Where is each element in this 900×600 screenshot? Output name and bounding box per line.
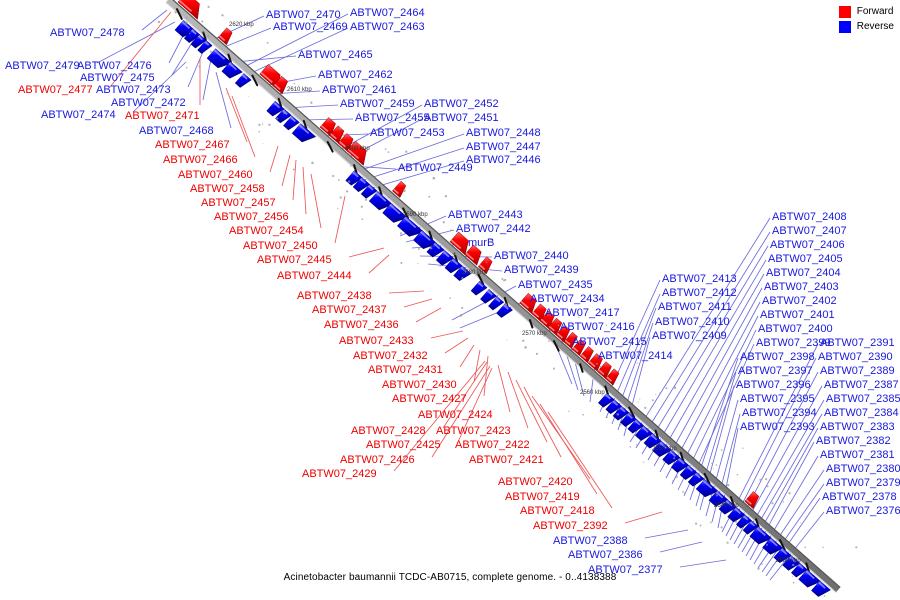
- gene-label-abtw07-2380[interactable]: ABTW07_2380: [826, 464, 900, 475]
- gene-label-abtw07-2463[interactable]: ABTW07_2463: [350, 22, 425, 33]
- gene-label-abtw07-2388[interactable]: ABTW07_2388: [553, 536, 628, 547]
- gene-label-abtw07-2439[interactable]: ABTW07_2439: [504, 265, 579, 276]
- gene-label-abtw07-2435[interactable]: ABTW07_2435: [518, 280, 593, 291]
- scale-tick-label-2570-kbp: 2570 kbp: [522, 331, 547, 337]
- scale-tick-label-2620-kbp: 2620 kbp: [229, 22, 254, 28]
- gene-label-abtw07-2476[interactable]: ABTW07_2476: [77, 61, 152, 72]
- gene-label-abtw07-2408[interactable]: ABTW07_2408: [772, 212, 847, 223]
- gene-label-abtw07-2438[interactable]: ABTW07_2438: [297, 291, 372, 302]
- gene-label-abtw07-2436[interactable]: ABTW07_2436: [324, 320, 399, 331]
- gene-label-abtw07-2379[interactable]: ABTW07_2379: [826, 478, 900, 489]
- gene-label-abtw07-2422[interactable]: ABTW07_2422: [455, 440, 530, 451]
- scale-tick-label-2590-kbp: 2590 kbp: [403, 212, 428, 218]
- gene-label-abtw07-2470[interactable]: ABTW07_2470: [266, 10, 341, 21]
- gene-label-abtw07-2415[interactable]: ABTW07_2415: [572, 337, 647, 348]
- scale-tick-label-2610-kbp: 2610 kbp: [287, 87, 312, 93]
- gene-label-abtw07-2411[interactable]: ABTW07_2411: [658, 302, 732, 313]
- gene-label-abtw07-2431[interactable]: ABTW07_2431: [368, 365, 443, 376]
- gene-label-abtw07-2376[interactable]: ABTW07_2376: [826, 506, 900, 517]
- gene-label-abtw07-2479[interactable]: ABTW07_2479: [5, 61, 80, 72]
- gene-label-abtw07-2454[interactable]: ABTW07_2454: [229, 226, 304, 237]
- gene-label-abtw07-2414[interactable]: ABTW07_2414: [598, 351, 673, 362]
- leader-line: [431, 331, 463, 338]
- gene-label-abtw07-2407[interactable]: ABTW07_2407: [772, 226, 847, 237]
- gene-label-abtw07-2472[interactable]: ABTW07_2472: [111, 98, 186, 109]
- leader-line: [216, 72, 231, 128]
- gene-label-abtw07-2447[interactable]: ABTW07_2447: [466, 142, 541, 153]
- gene-label-abtw07-2429[interactable]: ABTW07_2429: [302, 469, 377, 480]
- leader-line: [645, 530, 688, 538]
- gene-label-abtw07-2445[interactable]: ABTW07_2445: [257, 255, 332, 266]
- gene-label-abtw07-2459[interactable]: ABTW07_2459: [340, 99, 415, 110]
- gene-label-abtw07-2474[interactable]: ABTW07_2474: [41, 110, 116, 121]
- scale-tick-label-2600-kbp: 2600 kbp: [345, 146, 370, 152]
- gene-label-murb[interactable]: murB: [468, 238, 494, 249]
- scale-tick-label-2550-kbp: 2550 kbp: [652, 446, 677, 452]
- legend-reverse-swatch: [839, 21, 851, 33]
- leader-line: [508, 372, 528, 428]
- leader-line: [311, 174, 321, 228]
- gene-label-abtw07-2450[interactable]: ABTW07_2450: [243, 241, 318, 252]
- gene-label-abtw07-2421[interactable]: ABTW07_2421: [469, 455, 544, 466]
- gene-label-abtw07-2478[interactable]: ABTW07_2478: [50, 28, 125, 39]
- gene-label-abtw07-2434[interactable]: ABTW07_2434: [530, 294, 605, 305]
- scale-tick-label-2540-kbp: 2540 kbp: [714, 503, 739, 509]
- gene-label-abtw07-2455[interactable]: ABTW07_2455: [355, 113, 430, 124]
- gene-label-abtw07-2405[interactable]: ABTW07_2405: [768, 254, 843, 265]
- gene-label-abtw07-2382[interactable]: ABTW07_2382: [816, 436, 891, 447]
- gene-label-abtw07-2404[interactable]: ABTW07_2404: [766, 268, 841, 279]
- leader-line: [389, 291, 424, 293]
- gene-label-abtw07-2428[interactable]: ABTW07_2428: [351, 426, 426, 437]
- gene-label-abtw07-2460[interactable]: ABTW07_2460: [178, 170, 253, 181]
- scale-tick-label-2560-kbp: 2560 kbp: [580, 390, 605, 396]
- gene-label-abtw07-2464[interactable]: ABTW07_2464: [350, 8, 425, 19]
- leader-line: [232, 96, 255, 157]
- legend-forward-label: Forward: [857, 6, 894, 18]
- gene-label-abtw07-2390[interactable]: ABTW07_2390: [818, 352, 893, 363]
- gene-label-abtw07-2401[interactable]: ABTW07_2401: [760, 310, 835, 321]
- legend-reverse-label: Reverse: [857, 21, 894, 33]
- gene-label-abtw07-2423[interactable]: ABTW07_2423: [436, 426, 511, 437]
- gene-label-abtw07-2389[interactable]: ABTW07_2389: [820, 366, 895, 377]
- leader-line: [404, 299, 432, 307]
- leader-line: [349, 248, 384, 257]
- gene-label-abtw07-2426[interactable]: ABTW07_2426: [340, 455, 415, 466]
- gene-label-abtw07-2409[interactable]: ABTW07_2409: [652, 331, 727, 342]
- gene-label-abtw07-2412[interactable]: ABTW07_2412: [662, 288, 737, 299]
- leader-line: [625, 512, 662, 523]
- leader-line: [142, 10, 167, 30]
- scale-tick-label-2580-kbp: 2580 kbp: [462, 270, 487, 276]
- gene-label-abtw07-2457[interactable]: ABTW07_2457: [201, 198, 276, 209]
- leader-line: [282, 155, 290, 186]
- gene-label-abtw07-2424[interactable]: ABTW07_2424: [418, 410, 493, 421]
- gene-label-abtw07-2381[interactable]: ABTW07_2381: [820, 450, 895, 461]
- gene-label-abtw07-2440[interactable]: ABTW07_2440: [494, 251, 569, 262]
- gene-label-abtw07-2475[interactable]: ABTW07_2475: [80, 73, 155, 84]
- gene-label-abtw07-2425[interactable]: ABTW07_2425: [366, 440, 441, 451]
- figure-caption: Acinetobacter baumannii TCDC-AB0715, com…: [0, 572, 900, 583]
- leader-line: [460, 345, 474, 367]
- legend: ForwardReverse: [839, 6, 894, 33]
- gene-label-abtw07-2477[interactable]: ABTW07_2477: [18, 85, 93, 96]
- leader-line: [416, 308, 441, 322]
- gene-label-abtw07-2456[interactable]: ABTW07_2456: [214, 212, 289, 223]
- gene-label-abtw07-2467[interactable]: ABTW07_2467: [155, 140, 230, 151]
- gene-label-abtw07-2433[interactable]: ABTW07_2433: [339, 336, 414, 347]
- legend-reverse: Reverse: [839, 21, 894, 33]
- leader-line: [369, 255, 389, 273]
- gene-label-abtw07-2400[interactable]: ABTW07_2400: [758, 324, 833, 335]
- leader-line: [270, 146, 278, 172]
- gene-label-abtw07-2392[interactable]: ABTW07_2392: [533, 521, 608, 532]
- gene-label-abtw07-2402[interactable]: ABTW07_2402: [762, 296, 837, 307]
- gene-label-abtw07-2385[interactable]: ABTW07_2385: [826, 394, 900, 405]
- gene-label-abtw07-2383[interactable]: ABTW07_2383: [820, 422, 895, 433]
- gene-label-abtw07-2437[interactable]: ABTW07_2437: [312, 305, 387, 316]
- gene-label-abtw07-2443[interactable]: ABTW07_2443: [448, 210, 523, 221]
- gene-label-abtw07-2468[interactable]: ABTW07_2468: [139, 126, 214, 137]
- gene-label-abtw07-2403[interactable]: ABTW07_2403: [764, 282, 839, 293]
- leader-line: [660, 542, 702, 552]
- gene-label-abtw07-2387[interactable]: ABTW07_2387: [824, 380, 899, 391]
- gene-label-abtw07-2465[interactable]: ABTW07_2465: [298, 50, 373, 61]
- leader-line: [236, 56, 296, 62]
- leader-line: [303, 167, 306, 214]
- gene-label-abtw07-2378[interactable]: ABTW07_2378: [822, 492, 897, 503]
- scale-tick-label-2530-kbp: 2530 kbp: [776, 558, 801, 564]
- leader-line: [293, 160, 296, 200]
- gene-label-abtw07-2430[interactable]: ABTW07_2430: [382, 380, 457, 391]
- legend-forward: Forward: [839, 6, 894, 18]
- gene-label-abtw07-2442[interactable]: ABTW07_2442: [456, 224, 531, 235]
- gene-label-abtw07-2410[interactable]: ABTW07_2410: [655, 317, 730, 328]
- gene-label-abtw07-2419[interactable]: ABTW07_2419: [505, 492, 580, 503]
- gene-label-abtw07-2432[interactable]: ABTW07_2432: [353, 351, 428, 362]
- gene-label-abtw07-2462[interactable]: ABTW07_2462: [318, 70, 393, 81]
- gene-label-abtw07-2416[interactable]: ABTW07_2416: [560, 322, 635, 333]
- gene-label-abtw07-2444[interactable]: ABTW07_2444: [277, 271, 352, 282]
- gene-label-abtw07-2417[interactable]: ABTW07_2417: [545, 308, 620, 319]
- gene-label-abtw07-2398[interactable]: ABTW07_2398: [740, 352, 815, 363]
- gene-label-abtw07-2466[interactable]: ABTW07_2466: [163, 155, 238, 166]
- gene-label-abtw07-2418[interactable]: ABTW07_2418: [520, 506, 595, 517]
- genome-map-viewer: ABTW07_2478ABTW07_2479ABTW07_2476ABTW07_…: [0, 0, 900, 600]
- gene-label-abtw07-2448[interactable]: ABTW07_2448: [466, 128, 541, 139]
- gene-label-abtw07-2384[interactable]: ABTW07_2384: [824, 408, 899, 419]
- leader-line: [335, 196, 345, 243]
- gene-label-abtw07-2386[interactable]: ABTW07_2386: [568, 550, 643, 561]
- leader-line: [680, 560, 726, 567]
- gene-label-abtw07-2452[interactable]: ABTW07_2452: [424, 99, 499, 110]
- gene-label-abtw07-2449[interactable]: ABTW07_2449: [398, 163, 473, 174]
- gene-label-abtw07-2427[interactable]: ABTW07_2427: [392, 394, 467, 405]
- gene-label-abtw07-2394[interactable]: ABTW07_2394: [742, 408, 817, 419]
- gene-label-abtw07-2469[interactable]: ABTW07_2469: [273, 22, 348, 33]
- gene-label-abtw07-2397[interactable]: ABTW07_2397: [738, 366, 813, 377]
- leader-line: [445, 338, 468, 353]
- gene-label-abtw07-2395[interactable]: ABTW07_2395: [740, 394, 815, 405]
- gene-label-abtw07-2461[interactable]: ABTW07_2461: [322, 85, 397, 96]
- genome-axis-group: [166, 0, 840, 592]
- leader-line: [226, 88, 247, 142]
- gene-label-abtw07-2453[interactable]: ABTW07_2453: [370, 128, 445, 139]
- gene-label-abtw07-2420[interactable]: ABTW07_2420: [498, 477, 573, 488]
- gene-label-abtw07-2396[interactable]: ABTW07_2396: [736, 380, 811, 391]
- gene-label-abtw07-2393[interactable]: ABTW07_2393: [740, 422, 815, 433]
- gene-label-abtw07-2413[interactable]: ABTW07_2413: [662, 274, 737, 285]
- gene-label-abtw07-2458[interactable]: ABTW07_2458: [190, 184, 265, 195]
- gene-label-abtw07-2451[interactable]: ABTW07_2451: [424, 113, 499, 124]
- gene-label-abtw07-2406[interactable]: ABTW07_2406: [770, 240, 845, 251]
- gene-label-abtw07-2471[interactable]: ABTW07_2471: [125, 111, 200, 122]
- gene-label-abtw07-2391[interactable]: ABTW07_2391: [820, 338, 895, 349]
- gene-label-abtw07-2446[interactable]: ABTW07_2446: [466, 155, 541, 166]
- gene-label-abtw07-2473[interactable]: ABTW07_2473: [96, 85, 171, 96]
- legend-forward-swatch: [839, 6, 851, 18]
